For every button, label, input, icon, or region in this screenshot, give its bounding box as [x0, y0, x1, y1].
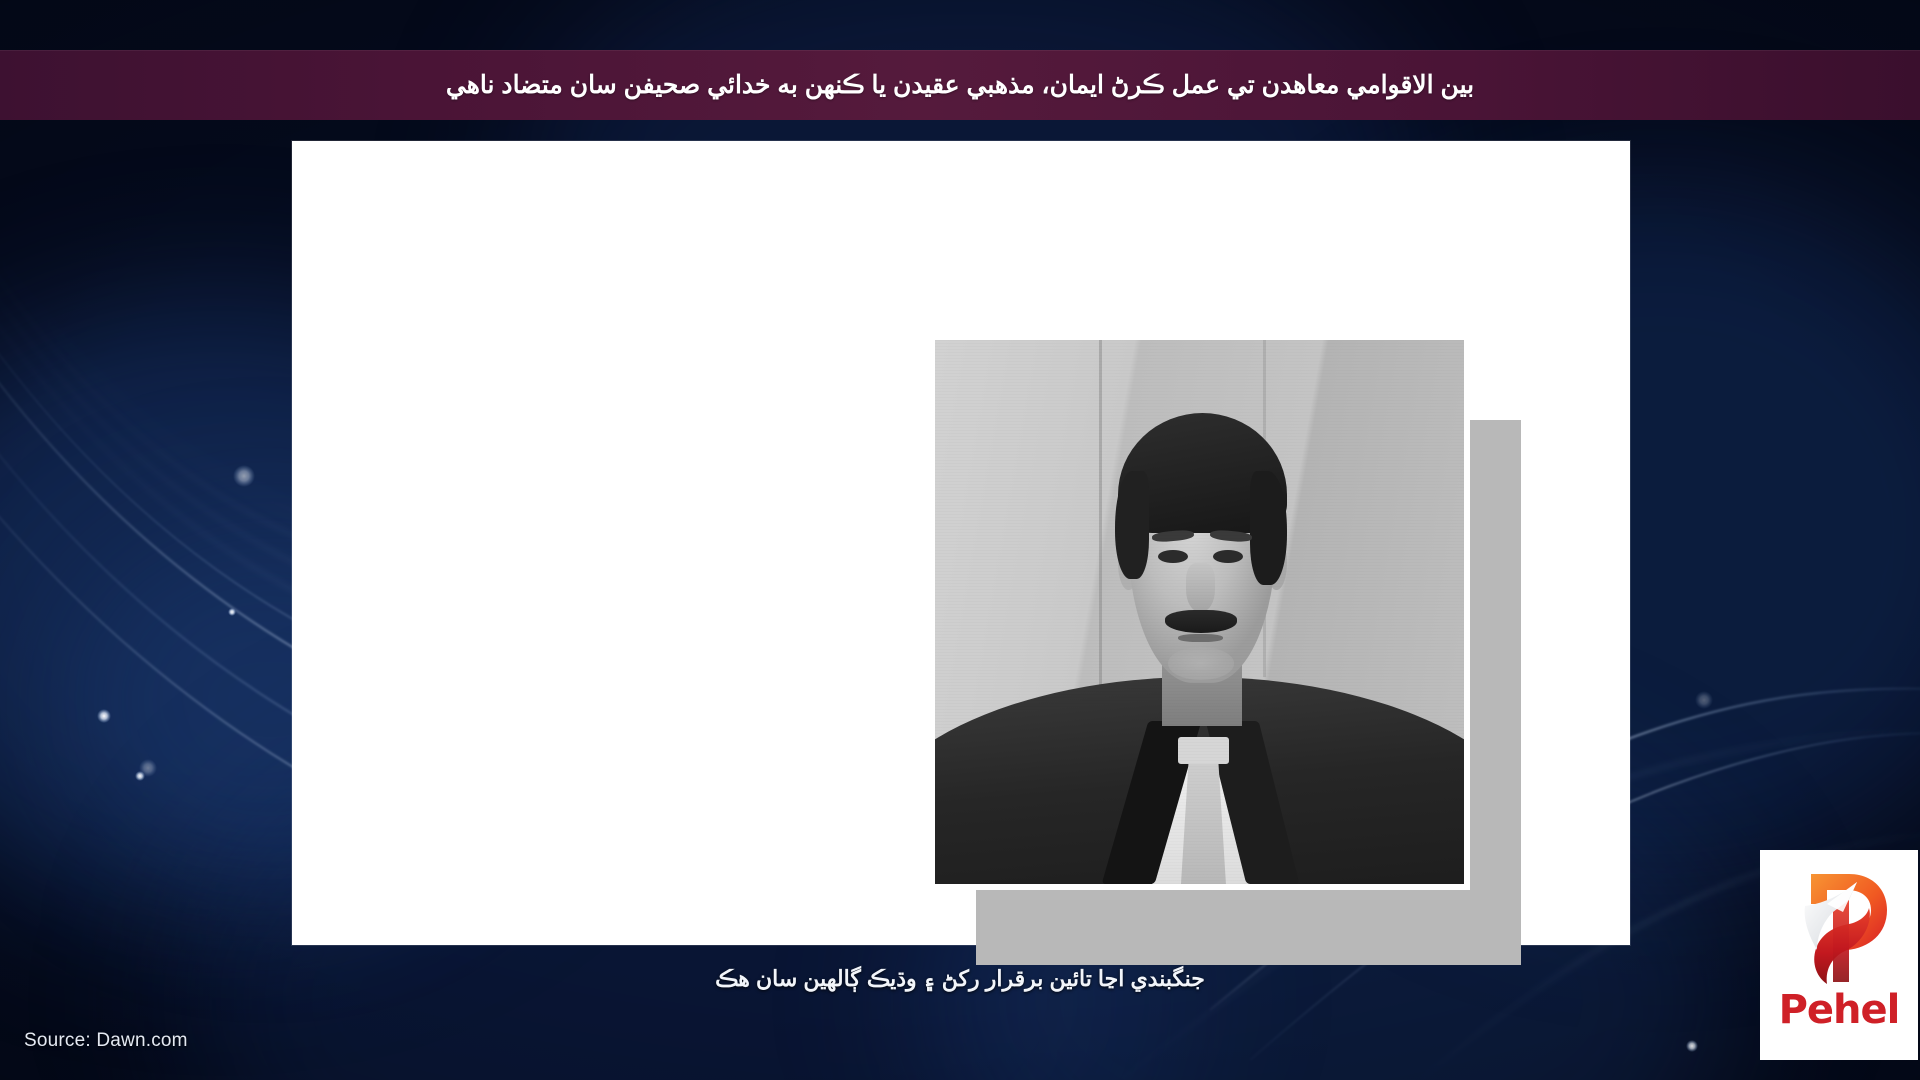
pehel-swirl-icon — [1787, 860, 1891, 988]
slide-stage: بين الاقوامي معاهدن تي عمل ڪرڻ ايمان، مذ… — [0, 0, 1920, 1080]
banner-title-text: بين الاقوامي معاهدن تي عمل ڪرڻ ايمان، مذ… — [446, 70, 1474, 100]
portrait-photo-frame — [929, 334, 1470, 890]
slide-caption: جنگبندي اڃا تائين برقرار رکڻ ۽ وڌيڪ ڳاله… — [0, 966, 1920, 992]
source-credit: Source: Dawn.com — [24, 1030, 188, 1052]
pehel-logo-panel: Pehel — [1760, 850, 1918, 1060]
slide-content-panel — [292, 141, 1630, 945]
portrait-photo — [935, 340, 1464, 884]
pehel-wordmark: Pehel — [1779, 990, 1900, 1030]
title-banner: بين الاقوامي معاهدن تي عمل ڪرڻ ايمان، مذ… — [0, 50, 1920, 120]
